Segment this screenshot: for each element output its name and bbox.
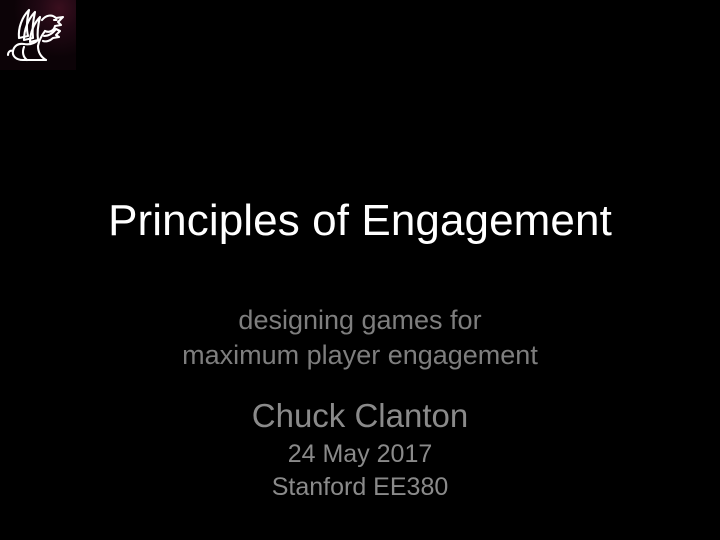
slide-title: Principles of Engagement <box>0 196 720 245</box>
author-name: Chuck Clanton <box>0 396 720 436</box>
presentation-slide: Principles of Engagement designing games… <box>0 0 720 540</box>
presentation-date: 24 May 2017 <box>0 438 720 470</box>
subtitle-line-2: maximum player engagement <box>0 338 720 373</box>
griffin-logo-icon <box>2 2 72 68</box>
logo-container <box>0 0 76 70</box>
subtitle-line-1: designing games for <box>0 303 720 338</box>
slide-subtitle: designing games for maximum player engag… <box>0 303 720 372</box>
author-block: Chuck Clanton 24 May 2017 Stanford EE380 <box>0 396 720 503</box>
presentation-venue: Stanford EE380 <box>0 471 720 503</box>
